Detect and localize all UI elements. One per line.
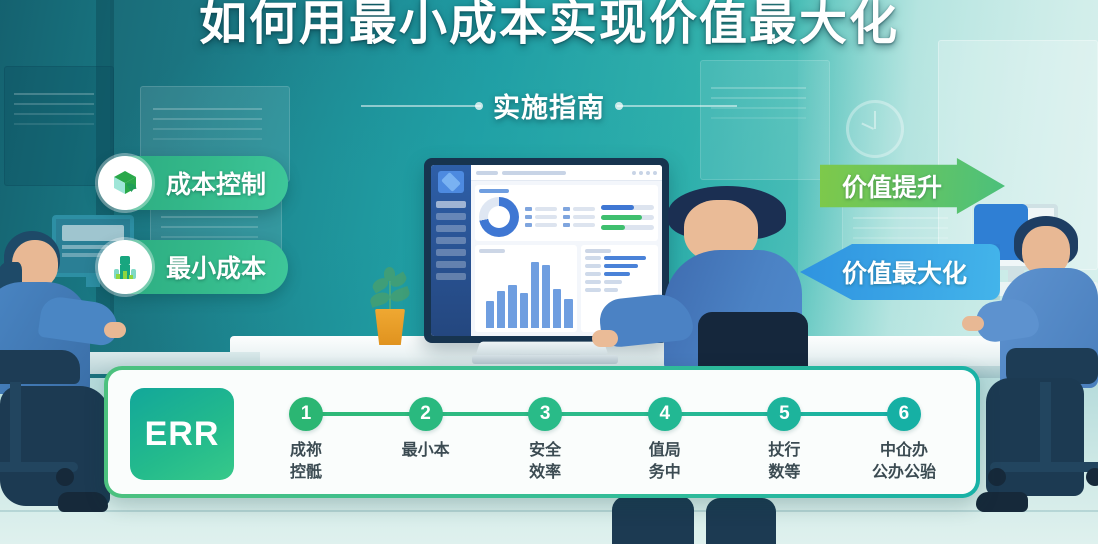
step-label: 中仚办 公办公骀 — [872, 440, 936, 483]
list-item — [585, 288, 654, 292]
timeline-steps: 1 成祢 控骶 2 最小本 3 安全 — [252, 370, 958, 494]
legend-label — [573, 215, 595, 219]
legend-label — [535, 223, 557, 227]
bar — [564, 299, 572, 328]
ranking-list-title — [585, 249, 611, 253]
right-chair-caster — [988, 468, 1006, 486]
step-label: 值局 务中 — [649, 440, 681, 483]
timeline-step-4[interactable]: 4 值局 务中 — [619, 370, 711, 483]
list-item — [585, 256, 654, 260]
legend-item — [563, 215, 595, 219]
step-label-line2: 务中 — [649, 462, 681, 484]
floor-seam — [0, 510, 1098, 512]
dashboard-logo-icon — [438, 171, 464, 193]
timeline-step-2[interactable]: 2 最小本 — [380, 370, 472, 462]
dashboard-search — [502, 171, 566, 175]
right-chair-caster — [1086, 468, 1098, 486]
cube-box-icon — [98, 156, 152, 210]
legend-label — [573, 223, 595, 227]
legend-label — [535, 207, 557, 211]
progress-bar — [601, 225, 654, 230]
steps-card: ERR 1 成祢 控骶 2 最小本 — [104, 366, 980, 498]
left-monitor-stand — [86, 277, 100, 287]
right-person-hand — [962, 316, 984, 331]
dashboard-action-icon — [639, 171, 643, 175]
timeline-step-1[interactable]: 1 成祢 控骶 — [260, 370, 352, 483]
step-number: 1 — [289, 397, 323, 431]
step-number: 2 — [409, 397, 443, 431]
steps-timeline: 1 成祢 控骶 2 最小本 3 安全 — [252, 370, 958, 494]
legend-item — [525, 223, 557, 227]
left-person-hand — [104, 322, 126, 338]
plant-leaf — [389, 286, 412, 304]
progress-bar — [601, 215, 654, 220]
step-label-line1: 中仚办 — [872, 440, 936, 462]
legend-item — [563, 207, 595, 211]
list-item — [585, 280, 654, 284]
dashboard-toolbar — [471, 165, 662, 181]
monitor-base — [472, 355, 618, 364]
legend-swatch — [563, 207, 570, 211]
infographic-canvas: 如何用最小成本实现价值最大化 实施指南 成本控制 — [0, 0, 1098, 544]
dashboard-nav-item — [436, 225, 466, 232]
legend-swatch — [563, 215, 570, 219]
dashboard-action-icon — [646, 171, 650, 175]
step-label-line1: 值局 — [649, 440, 681, 462]
bar — [508, 285, 516, 328]
dashboard-action-icon — [653, 171, 657, 175]
timeline-step-6[interactable]: 6 中仚办 公办公骀 — [858, 370, 950, 483]
step-label-line2: 公办公骀 — [872, 462, 936, 484]
step-label: 扙行 数等 — [768, 440, 800, 483]
wall-panel — [4, 66, 114, 186]
err-badge: ERR — [130, 388, 234, 480]
step-label-line1: 安全 — [529, 440, 561, 462]
legend-item — [563, 223, 595, 227]
left-monitor-content — [62, 225, 124, 241]
donut-legend-2 — [563, 207, 595, 227]
dashboard-sidebar — [431, 165, 471, 336]
right-person-shoe — [976, 492, 1028, 512]
page-subtitle: 实施指南 — [493, 86, 605, 125]
card-title — [479, 189, 509, 193]
pill-minimum-cost[interactable]: 最小成本 — [98, 240, 288, 294]
bar-chart-icon — [98, 240, 152, 294]
subtitle-row: 实施指南 — [0, 86, 1098, 125]
legend-swatch — [525, 215, 532, 219]
plant-leaf — [384, 267, 395, 281]
dashboard-action-icon — [632, 171, 636, 175]
plant-pot — [375, 309, 405, 345]
card-body — [479, 197, 654, 237]
legend-swatch — [563, 223, 570, 227]
bar — [531, 262, 539, 328]
center-person-hand — [592, 330, 618, 347]
left-chair-pole — [10, 382, 21, 468]
dashboard-nav-item — [436, 237, 466, 244]
plant-leaf — [369, 290, 392, 308]
step-label: 成祢 控骶 — [290, 440, 322, 483]
dashboard-nav-item — [436, 201, 466, 208]
center-person-legs — [706, 498, 776, 544]
step-label-line1: 扙行 — [768, 440, 800, 462]
dashboard-overview-card — [475, 185, 658, 241]
left-chair-seat — [0, 350, 80, 384]
timeline-step-3[interactable]: 3 安全 效率 — [499, 370, 591, 483]
left-person-shoe — [58, 492, 108, 512]
subtitle-rule-left — [361, 105, 481, 107]
arrow-label: 价值最大化 — [842, 254, 967, 290]
step-label: 安全 效率 — [529, 440, 561, 483]
donut-chart — [479, 197, 519, 237]
dashboard-nav-item — [436, 249, 466, 256]
step-number: 4 — [648, 397, 682, 431]
arrow-label: 价值提升 — [842, 168, 942, 204]
bar — [542, 265, 550, 328]
step-label: 最小本 — [402, 440, 450, 462]
pill-cost-control[interactable]: 成本控制 — [98, 156, 288, 210]
timeline-step-5[interactable]: 5 扙行 数等 — [738, 370, 830, 483]
bar — [486, 301, 494, 328]
dashboard-nav-item — [436, 273, 466, 280]
bar — [497, 291, 505, 328]
step-label-line2: 数等 — [768, 462, 800, 484]
step-label-line1: 最小本 — [402, 440, 450, 462]
progress-bar-group — [601, 205, 654, 230]
legend-item — [525, 207, 557, 211]
donut-legend — [525, 207, 557, 227]
legend-swatch — [525, 223, 532, 227]
step-label-line1: 成祢 — [290, 440, 322, 462]
progress-bar — [601, 205, 654, 210]
list-item — [585, 272, 654, 276]
potted-plant-icon — [368, 265, 412, 345]
legend-item — [525, 215, 557, 219]
dashboard-nav-item — [436, 213, 466, 220]
page-title: 如何用最小成本实现价值最大化 — [0, 0, 1098, 54]
dashboard-breadcrumb — [476, 171, 498, 175]
keyboard — [476, 342, 609, 355]
step-number: 3 — [528, 397, 562, 431]
bar-chart-bars — [479, 256, 573, 328]
bar — [520, 293, 528, 328]
pill-label: 成本控制 — [166, 165, 266, 201]
right-chair-base — [990, 462, 1098, 472]
step-label-line2: 控骶 — [290, 462, 322, 484]
step-label-line2: 效率 — [529, 462, 561, 484]
pill-label: 最小成本 — [166, 249, 266, 285]
list-item — [585, 264, 654, 268]
dashboard-nav-item — [436, 261, 466, 268]
legend-swatch — [525, 207, 532, 211]
step-number: 6 — [887, 397, 921, 431]
subtitle-rule-right — [617, 105, 737, 107]
legend-label — [535, 215, 557, 219]
step-number: 5 — [767, 397, 801, 431]
left-chair-caster — [56, 468, 74, 486]
legend-label — [573, 207, 595, 211]
bar-chart-title — [479, 249, 505, 253]
bar-chart-card — [475, 245, 577, 332]
bar — [553, 289, 561, 328]
left-monitor-lines — [62, 245, 108, 249]
right-chair-pole — [1040, 382, 1051, 468]
center-person-legs — [612, 496, 694, 544]
dashboard-toolbar-actions — [632, 171, 657, 175]
